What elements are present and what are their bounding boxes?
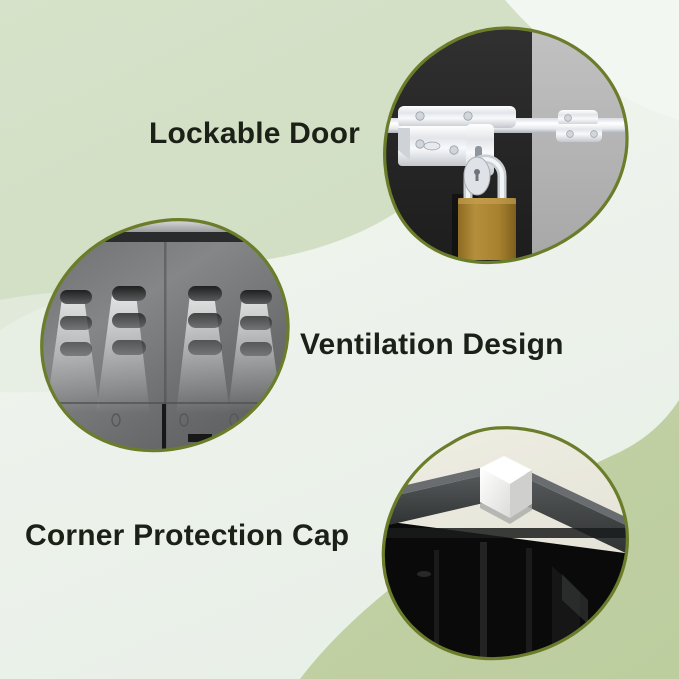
feature-label-lockable-door: Lockable Door xyxy=(149,119,360,149)
photo-corner-protection-cap xyxy=(376,424,632,672)
feature-label-ventilation-design: Ventilation Design xyxy=(300,330,564,360)
photo-lockable-door xyxy=(380,24,632,272)
feature-label-corner-protection-cap: Corner Protection Cap xyxy=(25,521,349,551)
feature-infographic: Lockable Door Ventilation Design Corner … xyxy=(0,0,679,679)
photo-ventilation-design xyxy=(38,216,294,456)
